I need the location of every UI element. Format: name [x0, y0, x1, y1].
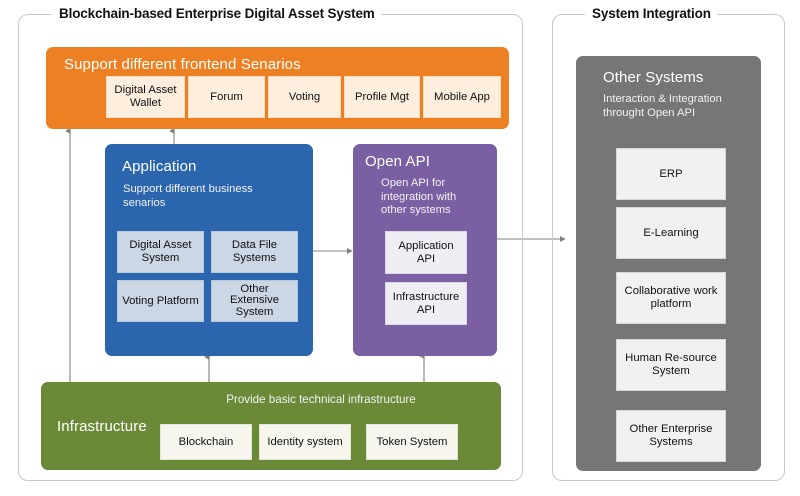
group-system-integration-title: System Integration — [585, 6, 718, 21]
card-voting-platform[interactable]: Voting Platform — [117, 280, 204, 322]
card-label: Infrastructure API — [389, 291, 463, 317]
layer-other-systems-title: Other Systems — [603, 69, 704, 86]
card-label: Collaborative work platform — [620, 285, 722, 311]
layer-other-systems: Other Systems Interaction & Integration … — [576, 56, 761, 471]
card-label: Application API — [389, 240, 463, 266]
card-label: Profile Mgt — [355, 91, 409, 104]
card-token-system[interactable]: Token System — [366, 424, 458, 460]
card-blockchain[interactable]: Blockchain — [160, 424, 252, 460]
card-label: Identity system — [267, 436, 342, 449]
card-label: Token System — [377, 436, 448, 449]
card-label: Other Enterprise Systems — [620, 423, 722, 449]
group-main-system-title: Blockchain-based Enterprise Digital Asse… — [52, 6, 382, 21]
card-label: E-Learning — [643, 227, 698, 240]
diagram-canvas: Blockchain-based Enterprise Digital Asse… — [0, 0, 800, 496]
card-label: Mobile App — [434, 91, 490, 104]
card-erp[interactable]: ERP — [616, 148, 726, 200]
card-collaborative-work-platform[interactable]: Collaborative work platform — [616, 272, 726, 324]
card-label: Human Re-source System — [620, 352, 722, 378]
card-label: Digital Asset Wallet — [110, 84, 181, 110]
layer-open-api-subtitle: Open API for integration with other syst… — [381, 177, 481, 218]
card-label: Data File Systems — [215, 239, 294, 265]
card-forum[interactable]: Forum — [188, 76, 265, 118]
card-human-resource-system[interactable]: Human Re-source System — [616, 339, 726, 391]
layer-application-title: Application — [122, 158, 196, 175]
card-digital-asset-wallet[interactable]: Digital Asset Wallet — [106, 76, 185, 118]
card-label: Digital Asset System — [121, 239, 200, 265]
card-voting[interactable]: Voting — [268, 76, 341, 118]
card-label: ERP — [659, 168, 682, 181]
card-label: Blockchain — [179, 436, 234, 449]
layer-infrastructure-subtitle: Provide basic technical infrastructure — [171, 393, 471, 407]
card-other-extensive-system[interactable]: Other Extensive System — [211, 280, 298, 322]
card-label: Voting — [289, 91, 320, 104]
card-label: Voting Platform — [122, 295, 199, 308]
layer-infrastructure-title: Infrastructure — [57, 418, 147, 435]
card-profile-mgt[interactable]: Profile Mgt — [344, 76, 420, 118]
card-e-learning[interactable]: E-Learning — [616, 207, 726, 259]
card-label: Other Extensive System — [215, 284, 294, 319]
card-mobile-app[interactable]: Mobile App — [423, 76, 501, 118]
card-infrastructure-api[interactable]: Infrastructure API — [385, 282, 467, 325]
card-digital-asset-system[interactable]: Digital Asset System — [117, 231, 204, 273]
card-label: Forum — [210, 91, 243, 104]
card-identity-system[interactable]: Identity system — [259, 424, 351, 460]
layer-open-api-title: Open API — [365, 153, 430, 170]
layer-frontend-title: Support different frontend Senarios — [64, 56, 301, 73]
layer-other-systems-subtitle: Interaction & Integration throught Open … — [603, 93, 748, 120]
card-application-api[interactable]: Application API — [385, 231, 467, 274]
layer-application-subtitle: Support different business senarios — [123, 183, 291, 210]
card-data-file-systems[interactable]: Data File Systems — [211, 231, 298, 273]
card-other-enterprise-systems[interactable]: Other Enterprise Systems — [616, 410, 726, 462]
